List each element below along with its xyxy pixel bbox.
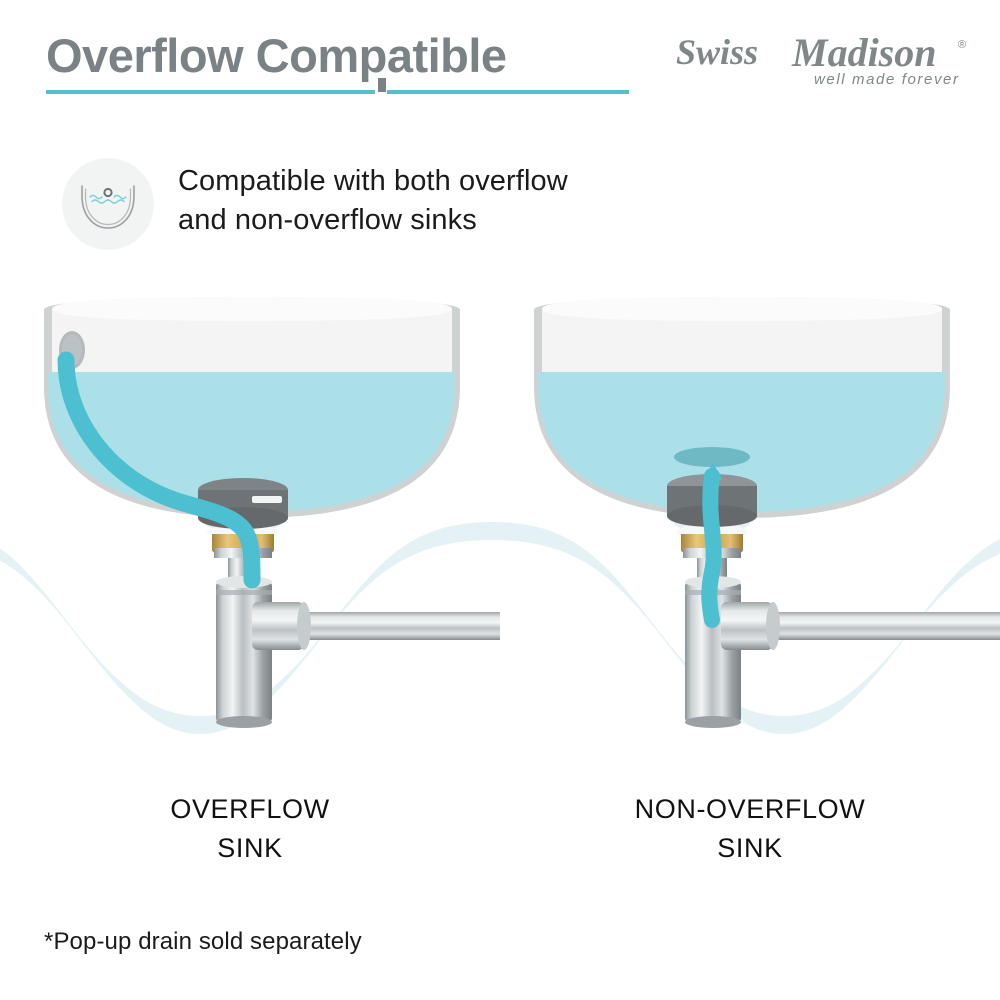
trap-elbow [252,602,304,650]
basin-rim [52,297,452,321]
logo-tagline: well made forever [814,71,960,88]
logo-registered-icon: ® [958,39,966,51]
logo-word-madison: Madison [791,30,937,75]
swiss-madison-logo: Swiss Madison ® well made forever [674,28,974,90]
product-infographic-page: Overflow Compatible Swiss Madison ® well… [0,0,1000,1000]
page-header: Overflow Compatible Swiss Madison ® well… [0,0,1000,120]
feature-text-line2: and non-overflow sinks [178,204,477,236]
caption-right-line1: NON-OVERFLOW [635,794,866,824]
caption-non-overflow-sink: NON-OVERFLOW SINK [530,790,970,868]
logo-word-swiss: Swiss [676,32,758,72]
footnote-disclaimer: *Pop-up drain sold separately [44,928,362,956]
trap-cup-bottom [216,716,272,728]
overflow-sink-basin-icon [62,158,154,250]
title-descender-stroke [378,78,386,92]
elbow-end [766,602,780,650]
trap-cup-bottom [685,716,741,728]
overflow-sink-illustration [0,290,500,760]
caption-overflow-sink: OVERFLOW SINK [30,790,470,868]
caption-right-line2: SINK [530,829,970,868]
drain-flow-arrow [709,476,713,620]
caption-left-line1: OVERFLOW [170,794,329,824]
non-overflow-sink-illustration [490,290,990,760]
page-title: Overflow Compatible [46,32,507,79]
feature-text-line1: Compatible with both overflow [178,165,568,197]
trap-elbow [721,602,773,650]
feature-callout: Compatible with both overflow and non-ov… [46,152,746,262]
feature-description: Compatible with both overflow and non-ov… [178,162,718,240]
title-underline [46,90,629,94]
basin-rim [542,297,942,321]
popup-cap-slot [252,496,282,503]
caption-left-line2: SINK [30,829,470,868]
elbow-end [297,602,311,650]
trap-seam [216,590,272,595]
